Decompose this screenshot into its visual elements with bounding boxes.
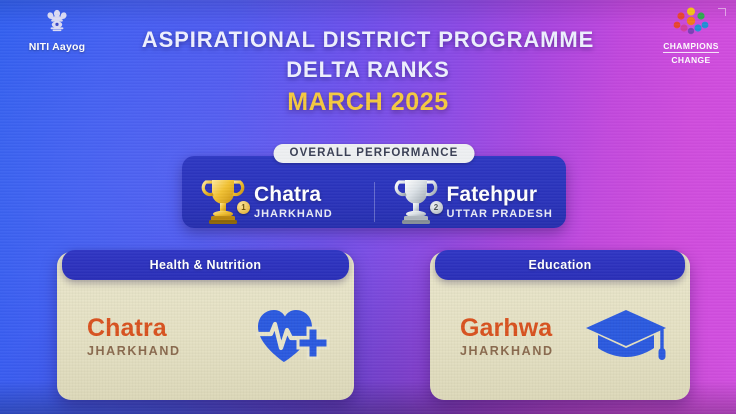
- ashoka-lion-capital-icon: [40, 6, 74, 40]
- frame-corner-mark: [718, 8, 726, 16]
- overall-district-1: Chatra: [254, 184, 333, 206]
- overall-state-2: UTTAR PRADESH: [447, 207, 553, 221]
- category-card-education: Education Garhwa JHARKHAND: [430, 252, 690, 400]
- rank-badge-1: 1: [237, 201, 250, 214]
- colorful-star-people-icon: [671, 6, 711, 36]
- niti-aayog-logo: NITI Aayog: [18, 6, 96, 53]
- rank-badge-2: 2: [430, 201, 443, 214]
- niti-aayog-wordmark: NITI Aayog: [18, 41, 96, 53]
- education-state: JHARKHAND: [460, 343, 554, 359]
- overall-performance-banner: OVERALL PERFORMANCE: [182, 156, 566, 228]
- category-card-health-nutrition: Health & Nutrition Chatra JHARKHAND: [57, 252, 354, 400]
- education-district: Garhwa: [460, 315, 554, 342]
- champions-label: CHAMPIONS: [663, 41, 719, 53]
- silver-trophy-icon: 2: [387, 176, 445, 228]
- slide-root: NITI Aayog CHAMPIONS CHANGE ASPIRATIONAL…: [0, 0, 736, 414]
- overall-district-2: Fatehpur: [447, 184, 553, 206]
- graduation-cap-icon: [584, 304, 668, 371]
- overall-winner-rank-2: 2 Fatehpur UTTAR PRADESH: [375, 176, 567, 228]
- heart-pulse-medical-cross-icon: [254, 304, 332, 371]
- overall-performance-pill: OVERALL PERFORMANCE: [274, 144, 475, 163]
- health-district: Chatra: [87, 315, 181, 342]
- overall-winner-rank-1: 1 Chatra JHARKHAND: [182, 176, 374, 228]
- title-month-year: MARCH 2025: [0, 87, 736, 117]
- title-line-1: ASPIRATIONAL DISTRICT PROGRAMME: [0, 26, 736, 53]
- card-header-label: Health & Nutrition: [150, 258, 262, 272]
- title-line-2: DELTA RANKS: [0, 56, 736, 83]
- champions-of-change-logo: CHAMPIONS CHANGE: [654, 6, 728, 66]
- overall-state-1: JHARKHAND: [254, 207, 333, 221]
- gold-trophy-icon: 1: [194, 176, 252, 228]
- change-label: CHANGE: [654, 55, 728, 66]
- card-header-education: Education: [435, 250, 685, 280]
- health-state: JHARKHAND: [87, 343, 181, 359]
- page-title: ASPIRATIONAL DISTRICT PROGRAMME DELTA RA…: [0, 26, 736, 117]
- card-header-health-nutrition: Health & Nutrition: [62, 250, 349, 280]
- card-header-label: Education: [528, 258, 591, 272]
